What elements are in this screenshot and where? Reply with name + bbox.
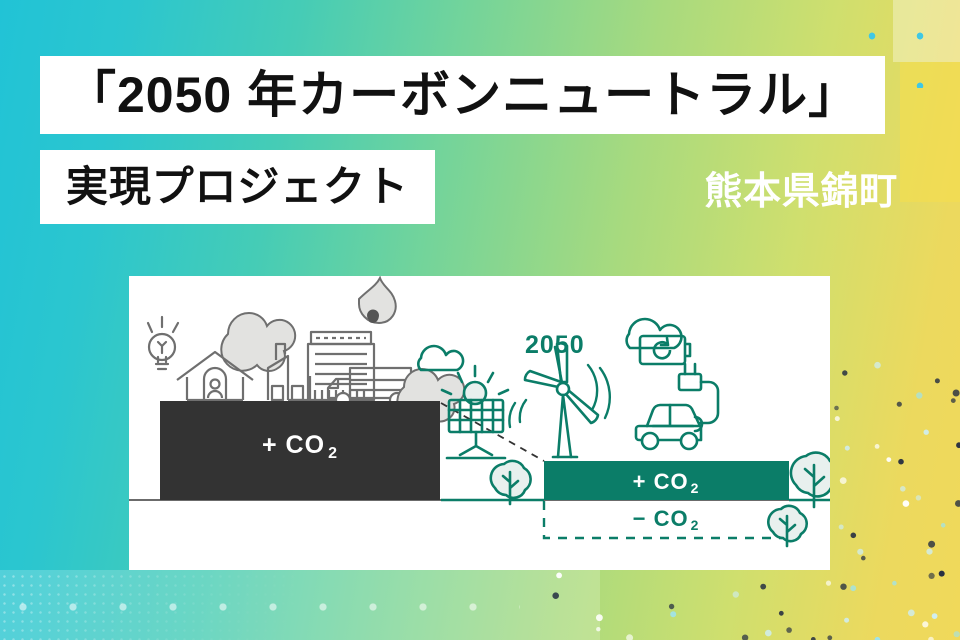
tree-icon (491, 461, 531, 504)
tree-icon (768, 506, 806, 546)
carbon-neutral-illustration: + CO2 2050 (129, 276, 830, 570)
year-label-2050: 2050 (525, 331, 585, 359)
flame-icon (359, 278, 396, 323)
region-label: 熊本県錦町 (704, 160, 898, 215)
fine-dot-texture-bottom-left (0, 572, 300, 640)
title-banner-line-1: 「2050 年カーボンニュートラル」 (40, 56, 885, 134)
smoke-cloud-icon (221, 313, 295, 371)
poster-canvas: 「2050 年カーボンニュートラル」 実現プロジェクト 熊本県錦町 (0, 0, 960, 640)
electric-car-icon (636, 364, 718, 449)
page-title-line-1: 「2050 年カーボンニュートラル」 (66, 70, 859, 120)
title-banner-line-2: 実現プロジェクト (40, 150, 435, 224)
absorption-label: − CO2 (633, 506, 700, 533)
rechargeable-battery-icon (640, 336, 690, 364)
illustration-card: + CO2 2050 (129, 276, 830, 570)
page-title-line-2: 実現プロジェクト (66, 166, 409, 208)
wind-turbine-icon (509, 343, 609, 457)
cloud-icon (418, 346, 463, 370)
lightbulb-icon (148, 317, 178, 369)
cloud-icon (627, 319, 682, 348)
